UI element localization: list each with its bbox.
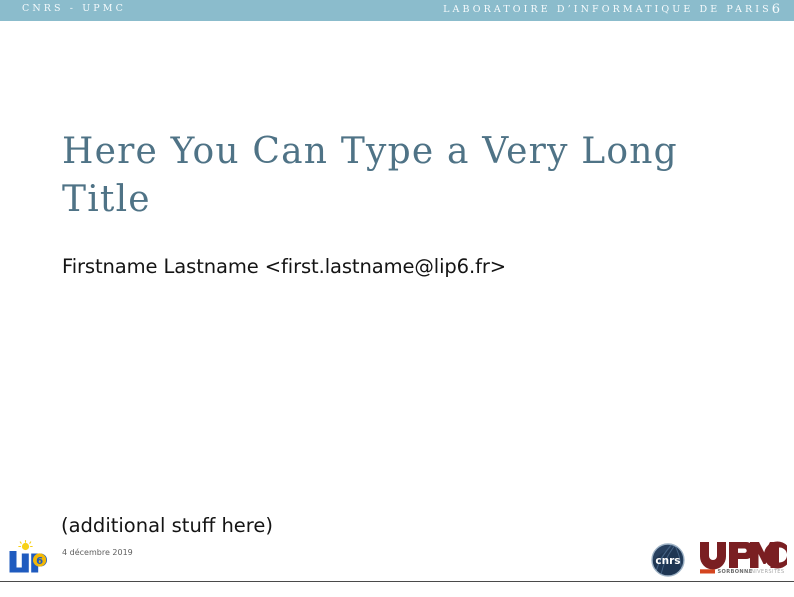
presentation-slide: CNRS - UPMC LABORATOIRE D’INFORMATIQUE D… (0, 0, 794, 597)
upmc-wordmark (700, 542, 787, 570)
lip6-digit: 6 (36, 556, 43, 567)
additional-note: (additional stuff here) (61, 514, 273, 537)
slide-author: Firstname Lastname <first.lastname@lip6.… (62, 255, 506, 278)
lip6-logo: 6 (6, 540, 52, 578)
cnrs-wordmark: cnrs (655, 555, 680, 567)
footer-divider (0, 581, 794, 582)
header-left-label: CNRS - UPMC (22, 3, 126, 14)
slide-header-bar: CNRS - UPMC LABORATOIRE D’INFORMATIQUE D… (0, 0, 794, 21)
upmc-subtitle-2: UNIVERSITÉS (747, 567, 784, 575)
header-right-text: LABORATOIRE D’INFORMATIQUE DE PARIS (443, 4, 772, 15)
slide-title: Here You Can Type a Very Long Title (62, 128, 682, 224)
header-right-label: LABORATOIRE D’INFORMATIQUE DE PARIS6 (443, 2, 780, 17)
upmc-logo: SORBONNE UNIVERSITÉS (698, 541, 788, 575)
lip6-sun-icon (19, 541, 32, 551)
header-right-number: 6 (772, 2, 780, 17)
cnrs-logo: cnrs (650, 542, 686, 578)
upmc-accent-bar (700, 569, 715, 573)
slide-date: 4 décembre 2019 (62, 548, 133, 557)
